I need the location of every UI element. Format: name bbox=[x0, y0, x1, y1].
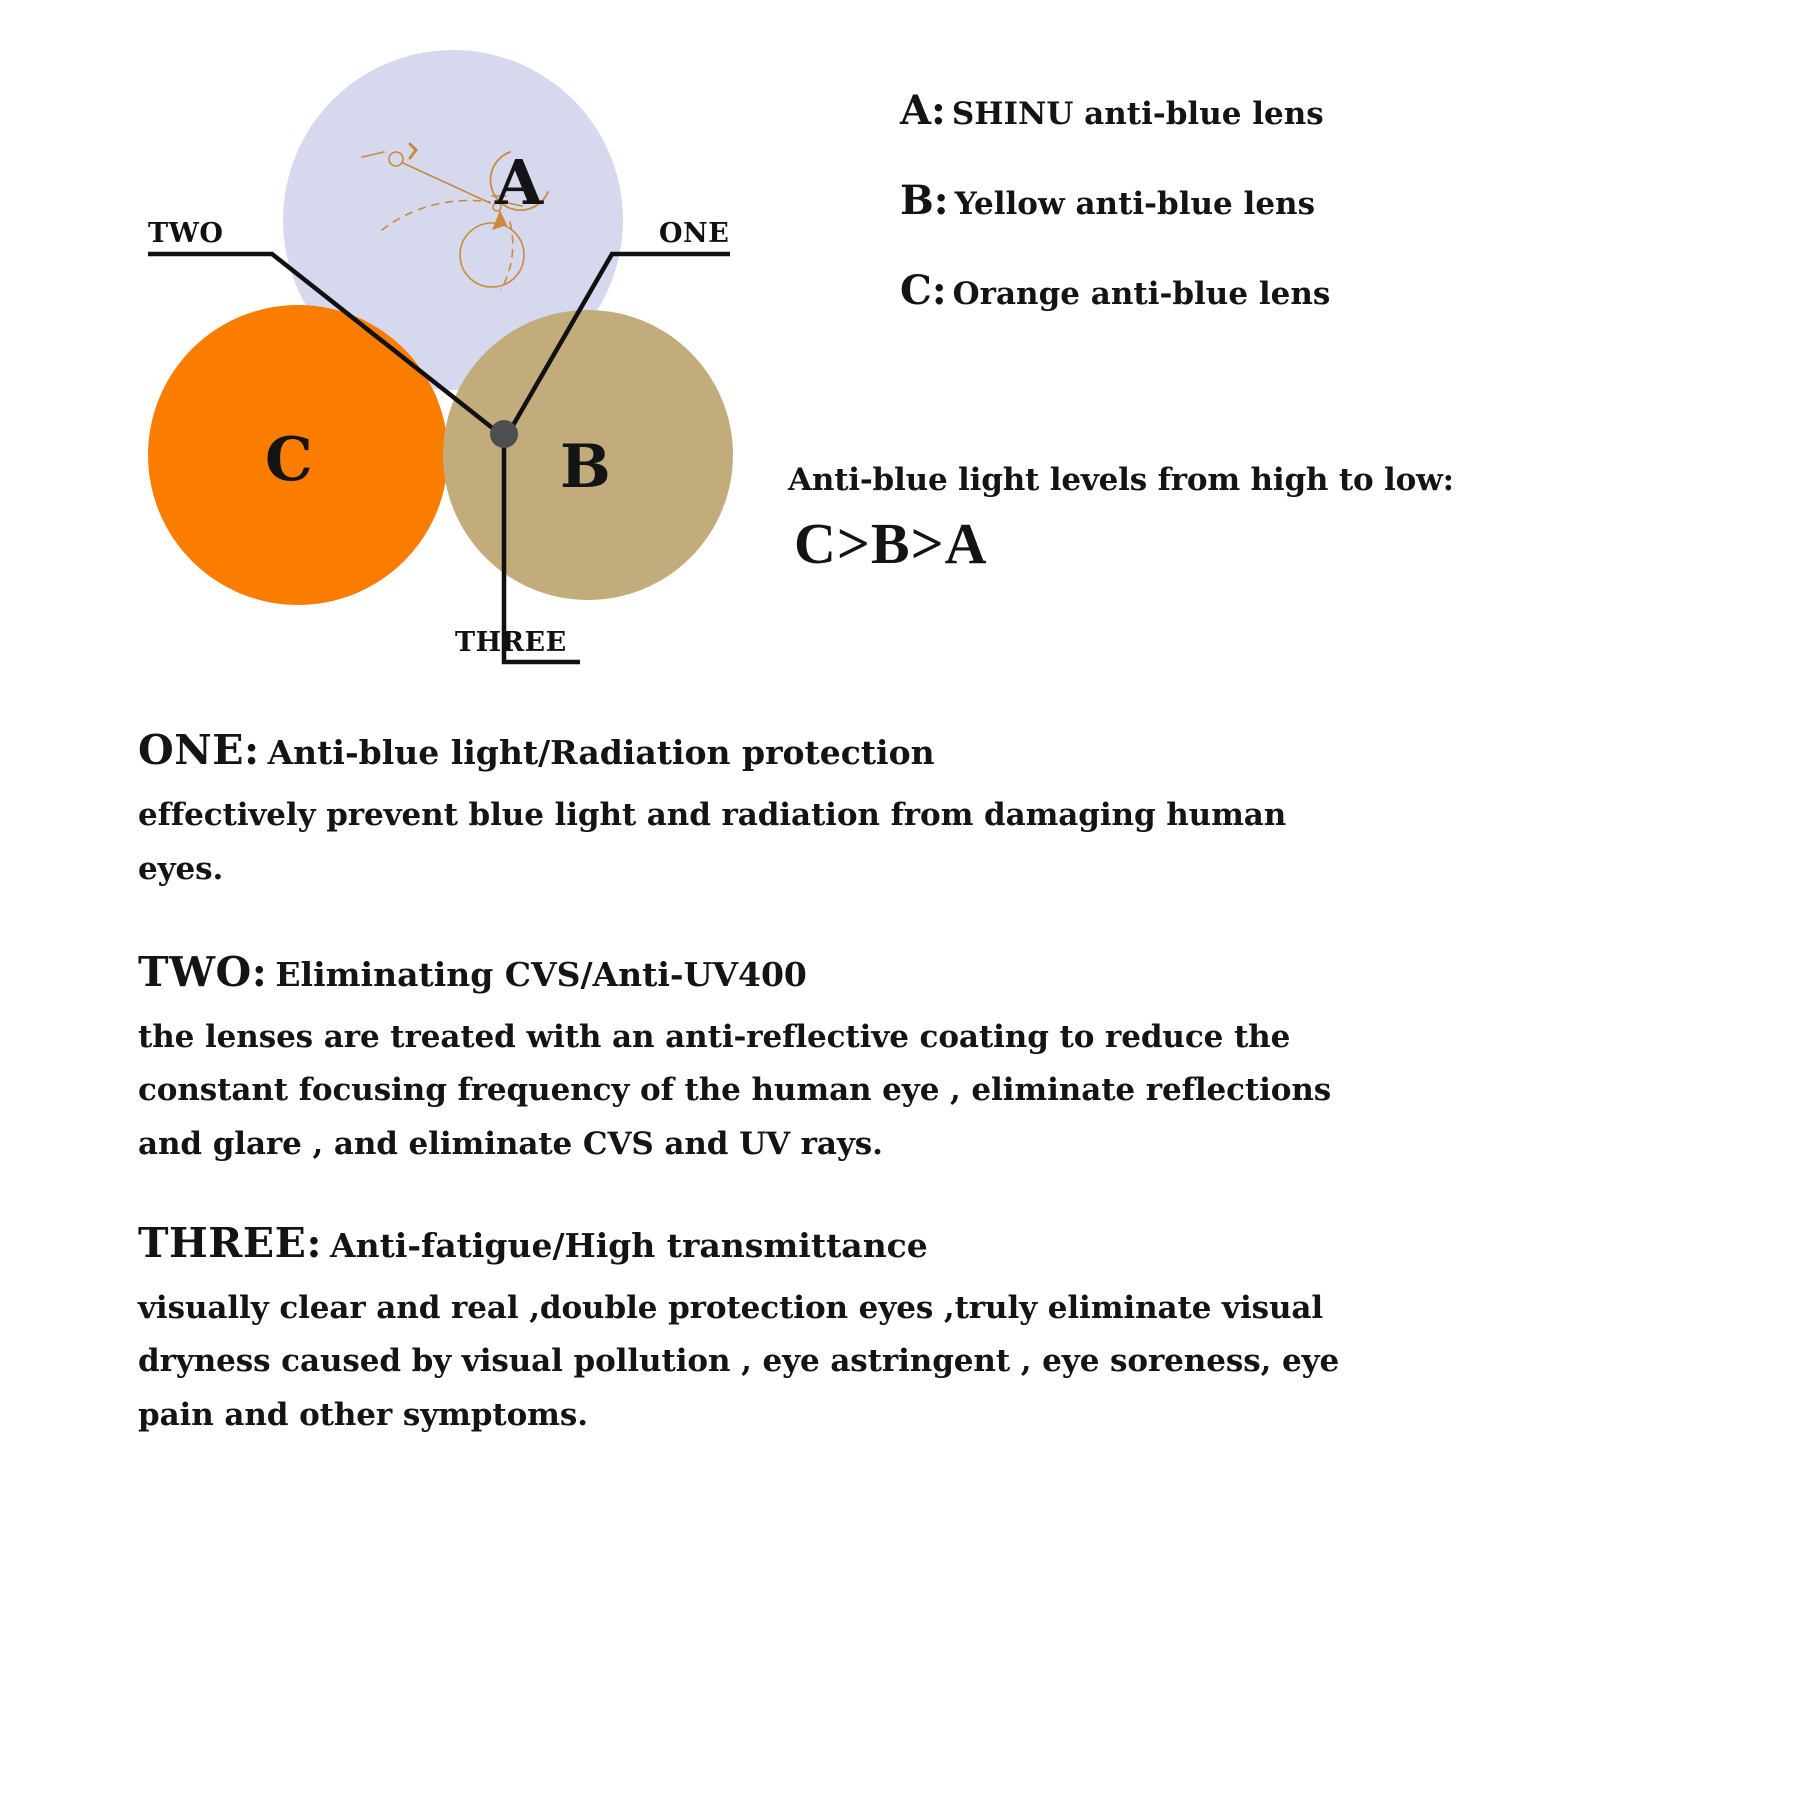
section-three-line-2: dryness caused by visual pollution , eye… bbox=[138, 1335, 1508, 1388]
junction-node bbox=[490, 420, 518, 448]
section-one: ONE:Anti-blue light/Radiation protection… bbox=[138, 726, 1508, 896]
section-one-line-1: effectively prevent blue light and radia… bbox=[138, 789, 1508, 842]
section-one-line-2: eyes. bbox=[138, 843, 1508, 896]
section-one-title: Anti-blue light/Radiation protection bbox=[268, 733, 935, 772]
section-two-title: Eliminating CVS/Anti-UV400 bbox=[275, 955, 806, 994]
legend-text-a: SHINU anti-blue lens bbox=[952, 96, 1324, 132]
callout-label-three: THREE bbox=[455, 627, 567, 658]
section-two-heading: TWO:Eliminating CVS/Anti-UV400 bbox=[138, 948, 1508, 997]
levels-caption: Anti-blue light levels from high to low: bbox=[788, 462, 1508, 498]
lens-legend: A:SHINU anti-blue lens B:Yellow anti-blu… bbox=[900, 90, 1540, 360]
levels-order-value: C>B>A bbox=[794, 510, 1508, 577]
callout-label-two: TWO bbox=[148, 218, 223, 249]
section-two-line-3: and glare , and eliminate CVS and UV ray… bbox=[138, 1118, 1508, 1171]
anti-blue-levels-block: Anti-blue light levels from high to low:… bbox=[788, 462, 1508, 577]
legend-item-b: B:Yellow anti-blue lens bbox=[900, 180, 1540, 222]
callout-label-one: ONE bbox=[659, 218, 729, 249]
legend-item-c: C:Orange anti-blue lens bbox=[900, 270, 1540, 312]
legend-text-b: Yellow anti-blue lens bbox=[955, 186, 1315, 222]
section-three: THREE:Anti-fatigue/High transmittance vi… bbox=[138, 1219, 1508, 1442]
section-two-key: TWO: bbox=[138, 948, 267, 996]
section-three-heading: THREE:Anti-fatigue/High transmittance bbox=[138, 1219, 1508, 1268]
section-one-key: ONE: bbox=[138, 726, 260, 774]
section-two: TWO:Eliminating CVS/Anti-UV400 the lense… bbox=[138, 948, 1508, 1171]
section-three-line-3: pain and other symptoms. bbox=[138, 1389, 1508, 1442]
section-one-body: effectively prevent blue light and radia… bbox=[138, 789, 1508, 896]
section-three-line-1: visually clear and real ,double protecti… bbox=[138, 1282, 1508, 1335]
legend-key-c: C: bbox=[900, 267, 947, 314]
section-one-heading: ONE:Anti-blue light/Radiation protection bbox=[138, 726, 1508, 775]
section-two-line-1: the lenses are treated with an anti-refl… bbox=[138, 1011, 1508, 1064]
section-three-key: THREE: bbox=[138, 1219, 322, 1267]
section-two-line-2: constant focusing frequency of the human… bbox=[138, 1064, 1508, 1117]
section-two-body: the lenses are treated with an anti-refl… bbox=[138, 1011, 1508, 1171]
section-three-body: visually clear and real ,double protecti… bbox=[138, 1282, 1508, 1442]
legend-item-a: A:SHINU anti-blue lens bbox=[900, 90, 1540, 132]
legend-text-c: Orange anti-blue lens bbox=[953, 276, 1331, 312]
legend-key-a: A: bbox=[900, 87, 946, 134]
feature-sections: ONE:Anti-blue light/Radiation protection… bbox=[138, 712, 1508, 1480]
section-three-title: Anti-fatigue/High transmittance bbox=[330, 1226, 928, 1265]
legend-key-b: B: bbox=[900, 177, 949, 224]
